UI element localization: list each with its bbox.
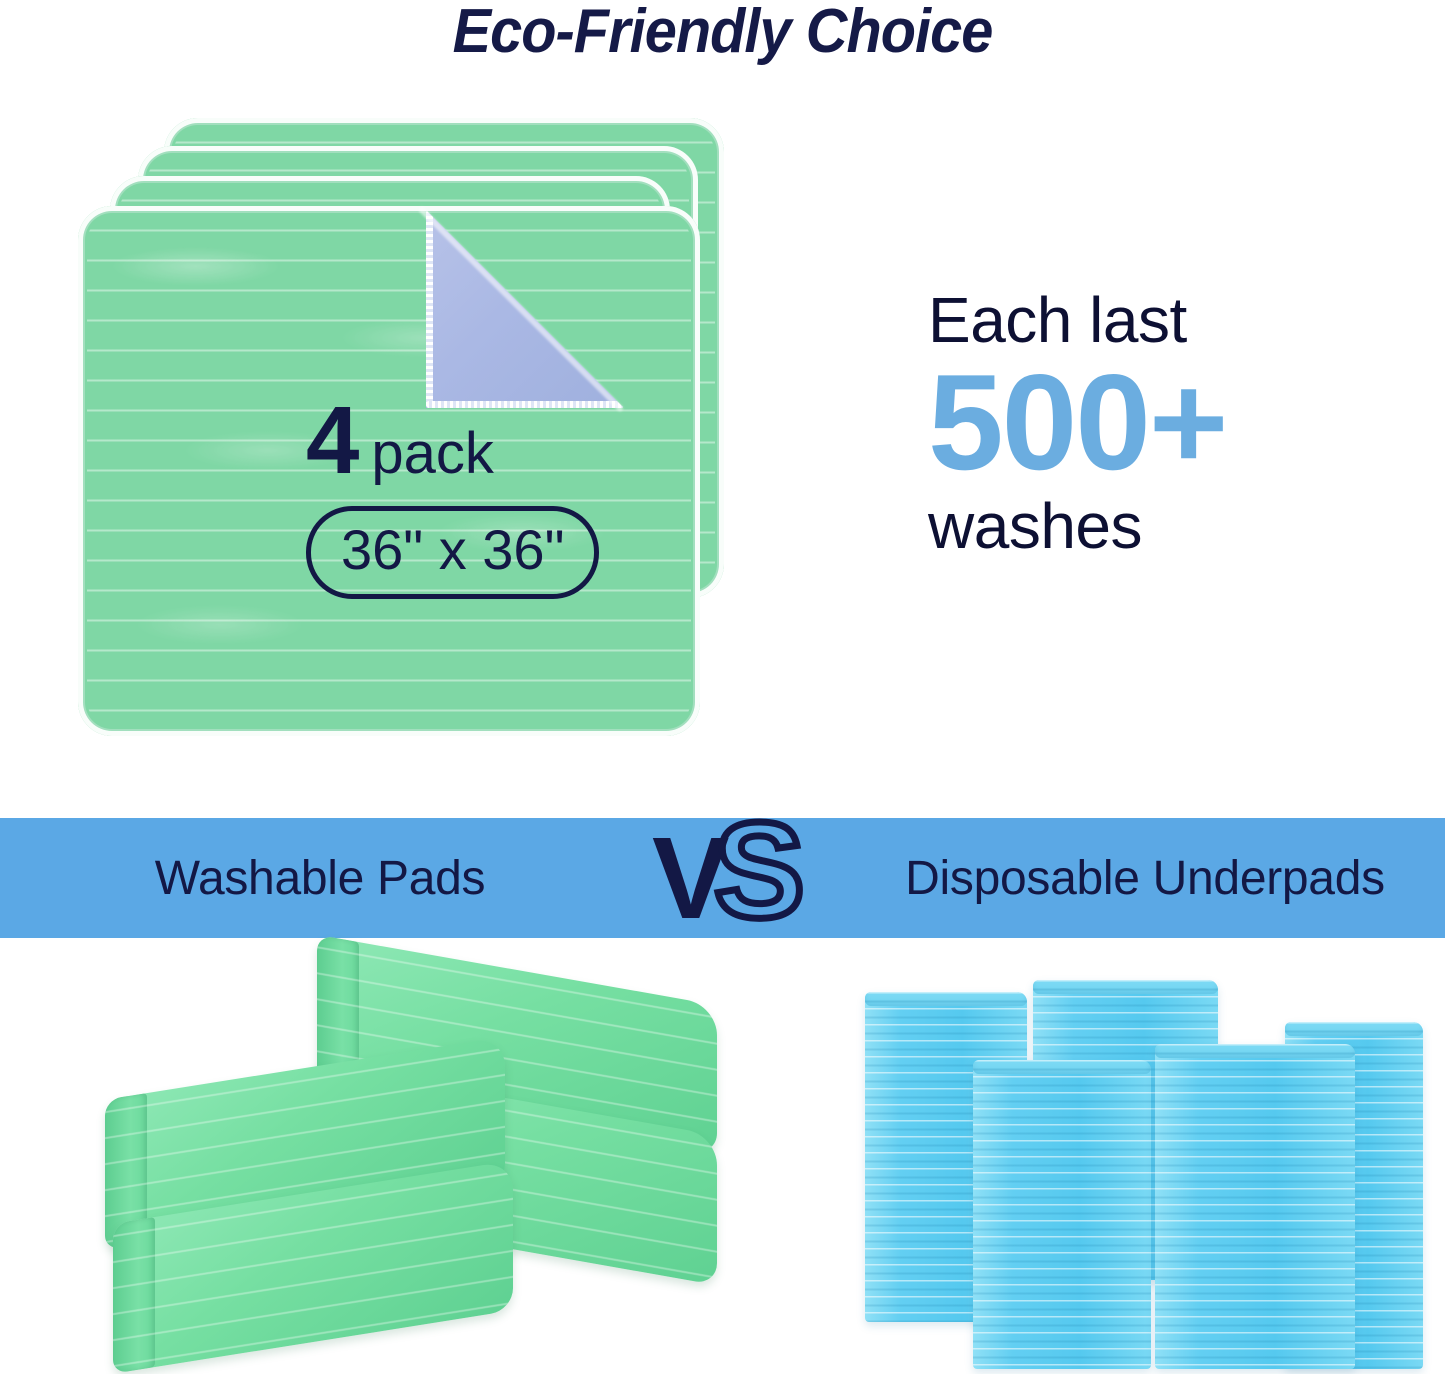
disposable-underpads-image [855,952,1430,1369]
washable-pads-folded-image [105,960,725,1369]
product-comparison-photos [0,940,1445,1369]
pack-count-number: 4 [306,398,357,484]
comparison-banner: Washable Pads V S Disposable Underpads [0,818,1445,938]
durability-claim: Each last 500+ washes [928,288,1388,558]
page-title: Eco-Friendly Choice [51,0,1395,67]
claim-line-3: washes [928,494,1388,558]
pack-count-line: 4 pack [306,398,599,484]
claim-line-1: Each last [928,288,1388,352]
washable-pad-stack-image: 4 pack 36" x 36" [78,118,738,758]
vs-badge: V S [652,802,822,952]
banner-label-left: Washable Pads [0,818,640,938]
underpad-stack-front-left [973,1060,1151,1369]
pad-spec-overlay: 4 pack 36" x 36" [306,398,599,599]
pack-count-label: pack [371,428,494,480]
claim-wash-count: 500+ [928,354,1388,490]
underpad-stack-front-right [1155,1044,1355,1369]
size-badge: 36" x 36" [306,506,599,599]
vs-letter-s: S [714,802,801,938]
banner-label-right: Disposable Underpads [845,818,1445,938]
